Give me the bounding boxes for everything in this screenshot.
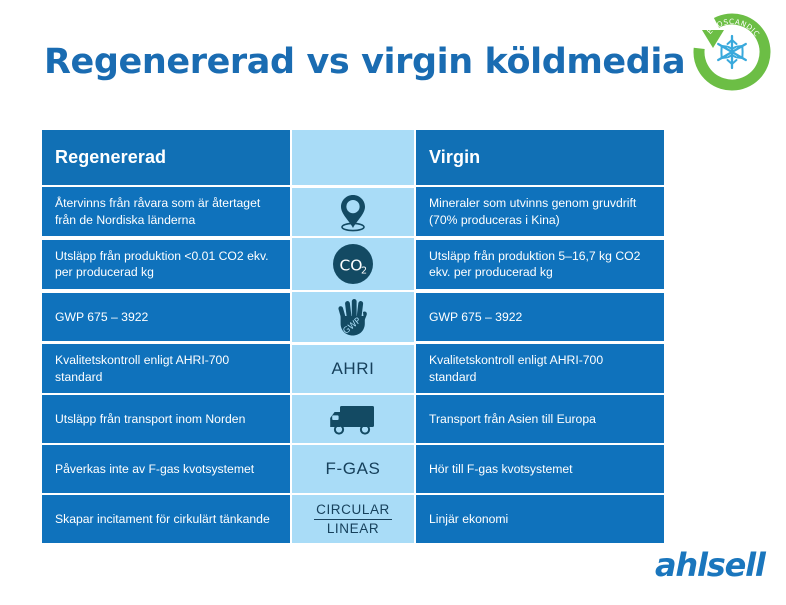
hand-gwp-icon: GWP (334, 296, 372, 338)
svg-text:2: 2 (361, 266, 367, 277)
ahlsell-wordmark: ahlsell (655, 548, 767, 582)
svg-text:CO: CO (339, 257, 362, 275)
page-header: Regenererad vs virgin köldmedia ECOSCAND… (0, 0, 786, 118)
cell-icon-7: CIRCULAR LINEAR (292, 495, 414, 543)
co2-circle-icon: CO 2 (331, 242, 375, 286)
ahri-text-icon: AHRI (331, 359, 374, 379)
ecoscandic-logo: ECOSCANDIC (688, 8, 776, 96)
truck-icon (328, 402, 378, 436)
cell-regenererad-1: Återvinns från råvara som är återtaget f… (42, 187, 290, 236)
page-title: Regenererad vs virgin köldmedia (44, 40, 685, 84)
table-row: Skapar incitament för cirkulärt tänkande… (42, 495, 664, 543)
linear-label: LINEAR (314, 519, 392, 537)
circular-label: CIRCULAR (314, 502, 392, 519)
cell-icon-4: AHRI (292, 345, 414, 393)
cell-icon-2: CO 2 (292, 238, 414, 290)
cell-icon-1 (292, 188, 414, 236)
cell-virgin-6: Hör till F-gas kvotsystemet (416, 445, 664, 493)
cell-icon-3: GWP (292, 292, 414, 342)
cell-virgin-7: Linjär ekonomi (416, 495, 664, 543)
table-row: Kvalitetskontroll enligt AHRI-700 standa… (42, 344, 664, 393)
cell-icon-6: F-GAS (292, 445, 414, 493)
cell-icon-5 (292, 395, 414, 443)
cell-virgin-1: Mineraler som utvinns genom gruvdrift (7… (416, 187, 664, 236)
cell-regenererad-5: Utsläpp från transport inom Norden (42, 395, 290, 443)
cell-virgin-2: Utsläpp från produktion 5–16,7 kg CO2 ek… (416, 240, 664, 289)
table-header-row: Regenererad Virgin (42, 130, 664, 185)
table-row: GWP 675 – 3922 GWP (42, 292, 664, 342)
map-pin-icon (335, 192, 371, 232)
table-row: Utsläpp från produktion <0.01 CO2 ekv. p… (42, 238, 664, 290)
cell-regenererad-2: Utsläpp från produktion <0.01 CO2 ekv. p… (42, 240, 290, 289)
cell-virgin-3: GWP 675 – 3922 (416, 293, 664, 341)
cell-regenererad-7: Skapar incitament för cirkulärt tänkande (42, 495, 290, 543)
fgas-text-icon: F-GAS (326, 459, 381, 479)
circular-linear-icon: CIRCULAR LINEAR (314, 502, 392, 537)
table-row: Utsläpp från transport inom Norden Trans… (42, 395, 664, 443)
comparison-table: Regenererad Virgin Återvinns från råvara… (40, 128, 666, 545)
cell-virgin-5: Transport från Asien till Europa (416, 395, 664, 443)
cell-virgin-4: Kvalitetskontroll enligt AHRI-700 standa… (416, 344, 664, 393)
column-header-icon (292, 130, 414, 185)
cell-regenererad-6: Påverkas inte av F-gas kvotsystemet (42, 445, 290, 493)
snowflake-icon (718, 36, 746, 68)
cell-regenererad-3: GWP 675 – 3922 (42, 293, 290, 341)
cell-regenererad-4: Kvalitetskontroll enligt AHRI-700 standa… (42, 344, 290, 393)
column-header-regenererad: Regenererad (42, 130, 290, 185)
table-row: Återvinns från råvara som är återtaget f… (42, 187, 664, 236)
column-header-virgin: Virgin (416, 130, 664, 185)
table-row: Påverkas inte av F-gas kvotsystemet F-GA… (42, 445, 664, 493)
ahlsell-logo: ahlsell (655, 548, 767, 582)
